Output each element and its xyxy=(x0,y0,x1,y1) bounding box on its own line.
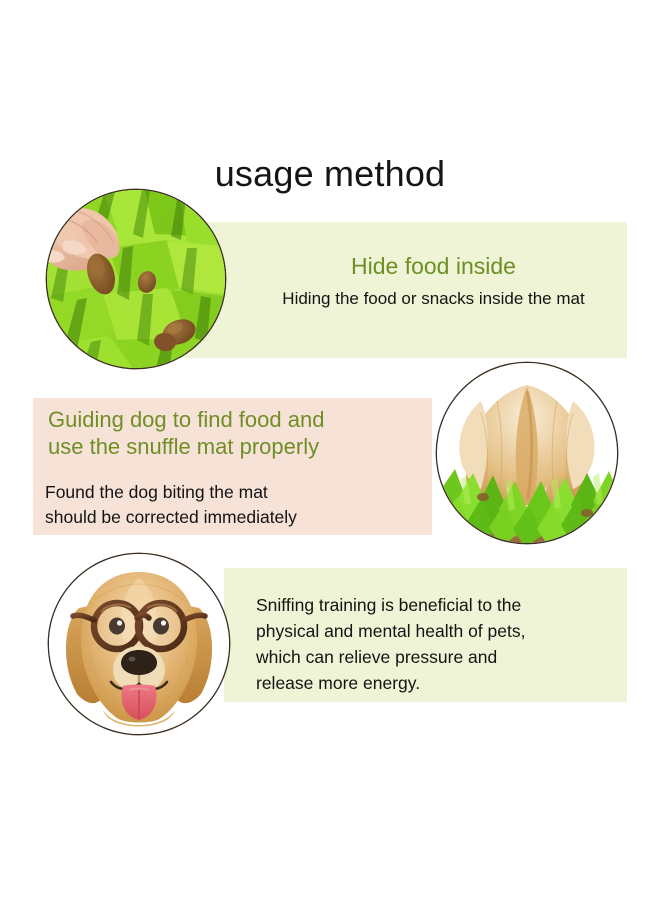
step-1-body: Hiding the food or snacks inside the mat xyxy=(240,288,627,310)
step-2-heading-line-2: use the snuffle mat properly xyxy=(48,433,418,460)
step-2-body-line-1: Found the dog biting the mat xyxy=(45,480,420,505)
step-3-body-line-4: release more energy. xyxy=(256,670,616,696)
step-3-body-line-2: physical and mental health of pets, xyxy=(256,618,616,644)
infographic-page: usage method Hide food inside Hiding the… xyxy=(0,0,660,900)
step-1-heading: Hide food inside xyxy=(240,252,627,280)
step-2-body-line-2: should be corrected immediately xyxy=(45,505,420,530)
hand-placing-kibble-in-snuffle-mat-photo xyxy=(47,190,225,368)
step-2-heading-line-1: Guiding dog to find food and xyxy=(48,406,418,433)
page-title: usage method xyxy=(0,152,660,196)
dog-sniffing-snuffle-mat-photo xyxy=(437,363,617,543)
step-3-body-line-1: Sniffing training is beneficial to the xyxy=(256,592,616,618)
step-2-heading: Guiding dog to find food and use the snu… xyxy=(48,406,418,460)
dog-wearing-glasses-photo xyxy=(49,554,229,734)
step-3-body: Sniffing training is beneficial to the p… xyxy=(256,592,616,696)
step-2-body: Found the dog biting the mat should be c… xyxy=(45,480,420,530)
step-3-body-line-3: which can relieve pressure and xyxy=(256,644,616,670)
